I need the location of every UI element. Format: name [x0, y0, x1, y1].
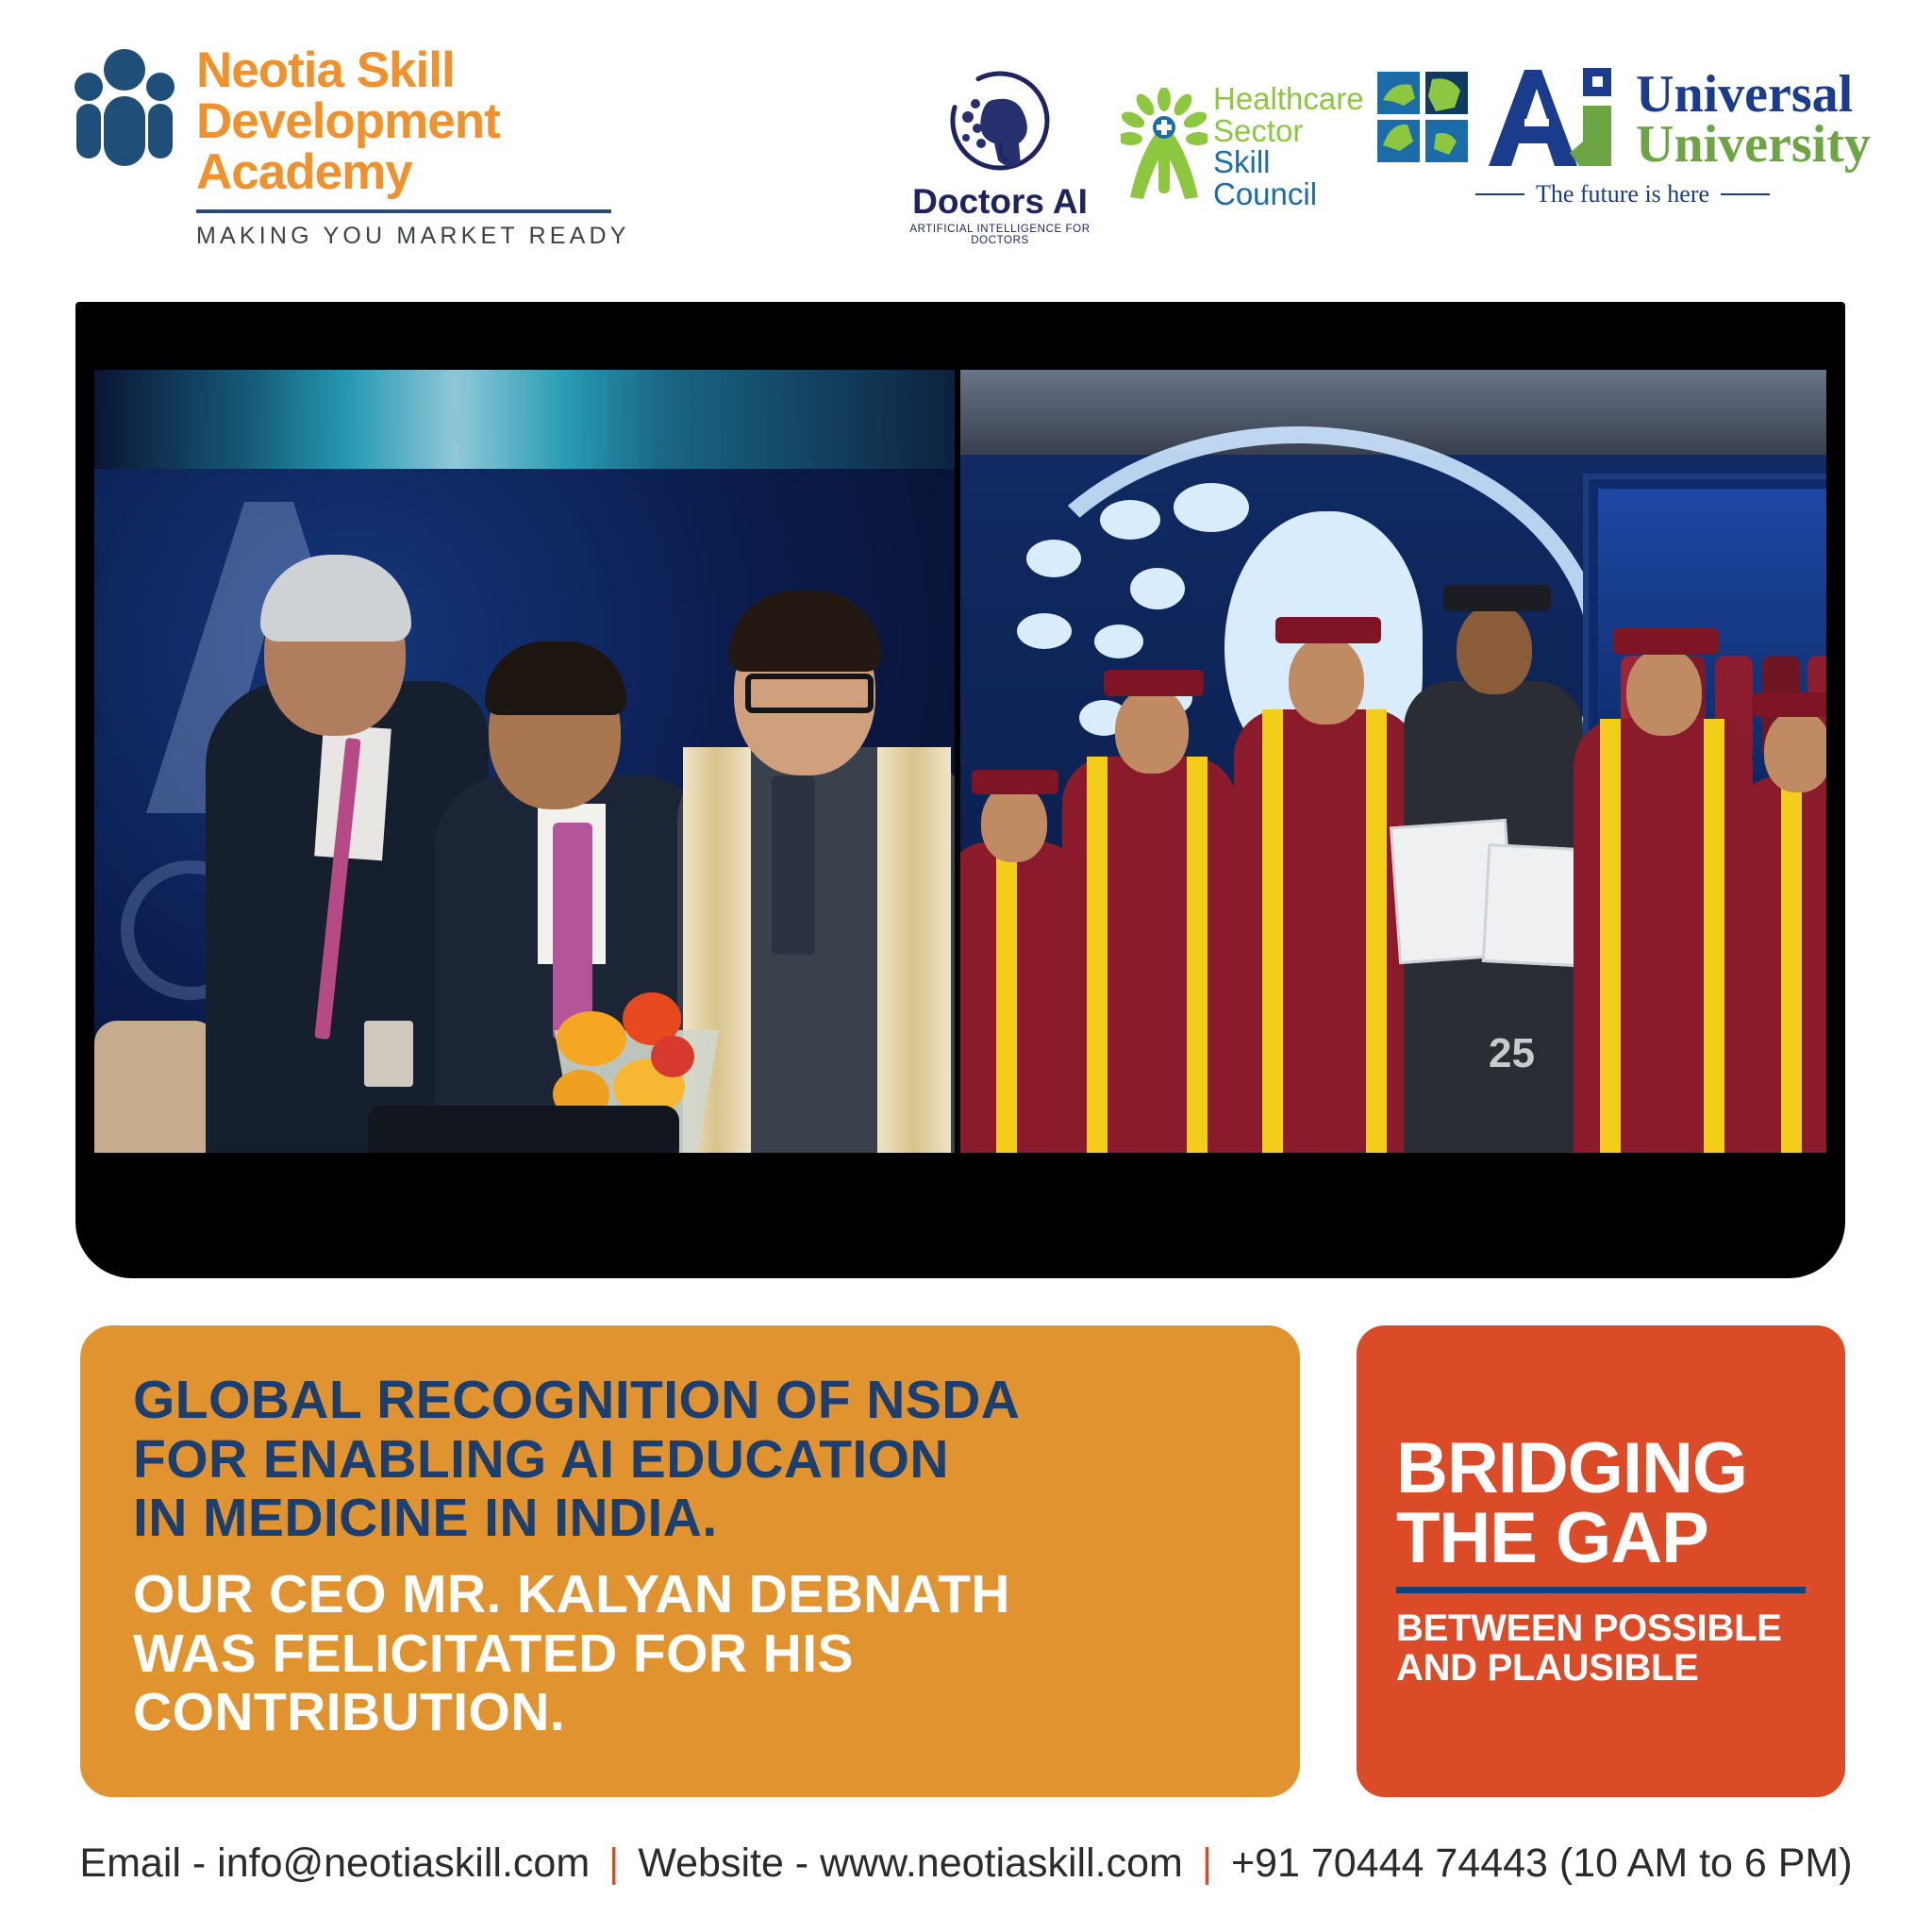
- four-globe-panels-icon: [1377, 72, 1468, 167]
- partner-hssc-line3: Skill Council: [1213, 146, 1364, 209]
- degree-recipient: [1404, 681, 1583, 1153]
- ai-head-circuit-icon: [906, 66, 1094, 182]
- left-photo-led-strip: [94, 370, 955, 469]
- bouquet-flower: [557, 1011, 626, 1066]
- partner-logo-universal-university: Universal University The future is here: [1377, 64, 1868, 208]
- red-tagline-panel: BRIDGING THE GAP BETWEEN POSSIBLE AND PL…: [1357, 1325, 1845, 1797]
- three-people-icon: [74, 45, 175, 168]
- footer-separator-2: |: [1202, 1840, 1212, 1887]
- partner-hssc-line2: Sector: [1213, 115, 1364, 147]
- brand-name-line2: Development: [196, 96, 630, 147]
- red-panel-sub-line2: AND PLAUSIBLE: [1396, 1648, 1806, 1688]
- orange-panel-line-3: IN MEDICINE IN INDIA.: [133, 1489, 1247, 1548]
- orange-panel-line-5: WAS FELICITATED FOR HIS: [133, 1624, 1247, 1684]
- person-right-shawl-right: [877, 747, 951, 1153]
- brain-node: [1094, 625, 1143, 658]
- photo-pair: 25: [94, 370, 1826, 1153]
- brain-node: [1130, 568, 1185, 609]
- footer: Email - info@neotiaskill.com | Website -…: [0, 1821, 1932, 1906]
- brain-node: [1017, 613, 1072, 649]
- orange-message-panel: GLOBAL RECOGNITION OF NSDA FOR ENABLING …: [80, 1325, 1300, 1797]
- screen-number-25: 25: [1489, 1030, 1535, 1077]
- photo-convocation: 25: [960, 370, 1826, 1153]
- partner-logo-doctors-ai: Doctors AI ARTIFICIAL INTELLIGENCE FOR D…: [906, 66, 1094, 246]
- person-left-badge: [364, 1021, 413, 1087]
- red-panel-divider: [1396, 1587, 1806, 1593]
- media-block: 25 AI IN MEDICINE - THE CONVOCATION: [75, 302, 1845, 1278]
- brand-divider: [196, 209, 611, 213]
- universal-university-row: Universal University: [1377, 64, 1868, 175]
- photo-felicitation: [94, 370, 955, 1153]
- red-panel-sub-line1: BETWEEN POSSIBLE: [1396, 1608, 1806, 1648]
- partner-hssc-text: Healthcare Sector Skill Council: [1213, 83, 1364, 210]
- footer-contact-row: Email - info@neotiaskill.com | Website -…: [79, 1840, 1852, 1887]
- orange-panel-line-4: OUR CEO MR. KALYAN DEBNATH: [133, 1565, 1247, 1624]
- orange-panel-line-6: CONTRIBUTION.: [133, 1683, 1247, 1742]
- footer-email[interactable]: Email - info@neotiaskill.com: [79, 1840, 590, 1887]
- universal-university-tagline-row: The future is here: [1377, 180, 1868, 208]
- footer-phone[interactable]: +91 70444 74443 (10 AM to 6 PM): [1231, 1840, 1853, 1887]
- tagline-rule-right: [1721, 193, 1770, 195]
- brain-node: [1026, 540, 1081, 577]
- orange-panel-line-2: FOR ENABLING AI EDUCATION: [133, 1430, 1247, 1490]
- stage-foreground-object: [368, 1106, 679, 1153]
- faculty-member: [1062, 757, 1237, 1153]
- brand-name-line1: Neotia Skill: [196, 45, 630, 96]
- brain-node: [1174, 483, 1249, 532]
- person-right-glasses: [745, 674, 874, 713]
- faculty-member: [1574, 719, 1753, 1153]
- header: Neotia Skill Development Academy MAKING …: [0, 0, 1932, 283]
- brand-tagline: MAKING YOU MARKET READY: [196, 223, 630, 250]
- red-panel-title-line1: BRIDGING: [1396, 1434, 1806, 1504]
- partner-doctors-ai-name: Doctors AI: [906, 184, 1094, 219]
- orange-panel-line-1: GLOBAL RECOGNITION OF NSDA: [133, 1371, 1247, 1430]
- universal-university-words: Universal University: [1636, 70, 1871, 168]
- footer-separator-1: |: [608, 1840, 619, 1887]
- partner-hssc-line1: Healthcare: [1213, 83, 1364, 115]
- green-person-leaf-icon: [1121, 88, 1207, 206]
- brand-logo: Neotia Skill Development Academy MAKING …: [74, 45, 630, 250]
- brand-text: Neotia Skill Development Academy MAKING …: [196, 45, 630, 250]
- faculty-member: [1734, 775, 1826, 1153]
- universal-university-tagline: The future is here: [1536, 180, 1709, 208]
- tagline-rule-left: [1475, 193, 1524, 195]
- bouquet-flower: [651, 1036, 694, 1077]
- partner-doctors-ai-subtitle: ARTIFICIAL INTELLIGENCE FOR DOCTORS: [906, 224, 1094, 246]
- red-panel-title-line2: THE GAP: [1396, 1504, 1806, 1574]
- universal-university-line1: Universal: [1636, 70, 1871, 119]
- universal-university-monogram: [1481, 64, 1624, 175]
- brain-node: [1100, 500, 1160, 540]
- stage-chair-left: [94, 1021, 217, 1153]
- footer-website[interactable]: Website - www.neotiaskill.com: [638, 1840, 1183, 1887]
- faculty-member: [1234, 709, 1418, 1153]
- partner-logo-hssc: Healthcare Sector Skill Council: [1121, 83, 1357, 210]
- partner-logos: Doctors AI ARTIFICIAL INTELLIGENCE FOR D…: [906, 57, 1868, 245]
- person-right-tie: [772, 775, 815, 955]
- universal-university-line2: University: [1636, 120, 1871, 169]
- poster-root: Neotia Skill Development Academy MAKING …: [0, 0, 1932, 1932]
- brand-name-line3: Academy: [196, 147, 630, 198]
